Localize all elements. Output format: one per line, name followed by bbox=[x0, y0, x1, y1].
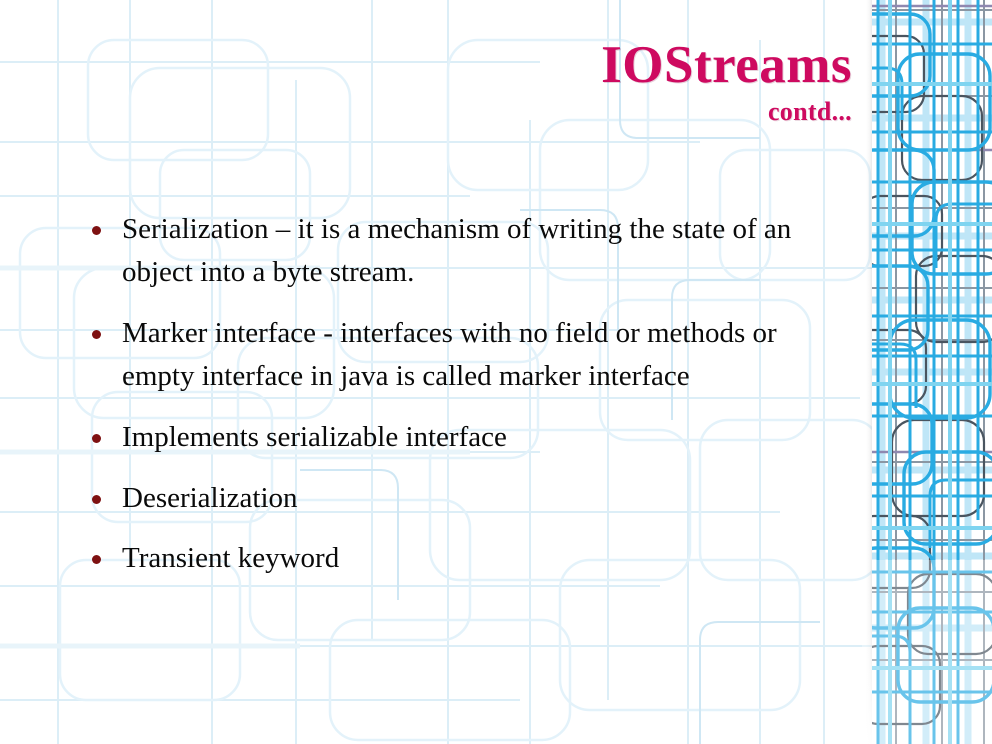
slide-content: IOStreams contd... Serialization – it is… bbox=[0, 0, 992, 744]
list-item-label: Marker interface - interfaces with no fi… bbox=[122, 312, 822, 398]
bullet-dot-icon bbox=[92, 434, 101, 443]
page-title: IOStreams bbox=[212, 38, 852, 92]
list-item: Deserialization bbox=[86, 477, 846, 520]
list-item-label: Transient keyword bbox=[122, 537, 846, 580]
title-block: IOStreams contd... bbox=[212, 38, 852, 127]
list-item-label: Serialization – it is a mechanism of wri… bbox=[122, 208, 846, 294]
bullet-dot-icon bbox=[92, 330, 101, 339]
bullet-list: Serialization – it is a mechanism of wri… bbox=[86, 208, 846, 580]
list-item: Marker interface - interfaces with no fi… bbox=[86, 312, 822, 398]
list-item: Transient keyword bbox=[86, 537, 846, 580]
page-subtitle: contd... bbox=[212, 98, 852, 127]
list-item: Serialization – it is a mechanism of wri… bbox=[86, 208, 846, 294]
list-item-label: Implements serializable interface bbox=[122, 416, 846, 459]
bullet-dot-icon bbox=[92, 226, 101, 235]
bullet-dot-icon bbox=[92, 555, 101, 564]
slide-canvas: IOStreams contd... Serialization – it is… bbox=[0, 0, 992, 744]
bullet-dot-icon bbox=[92, 495, 101, 504]
list-item-label: Deserialization bbox=[122, 477, 846, 520]
list-item: Implements serializable interface bbox=[86, 416, 846, 459]
